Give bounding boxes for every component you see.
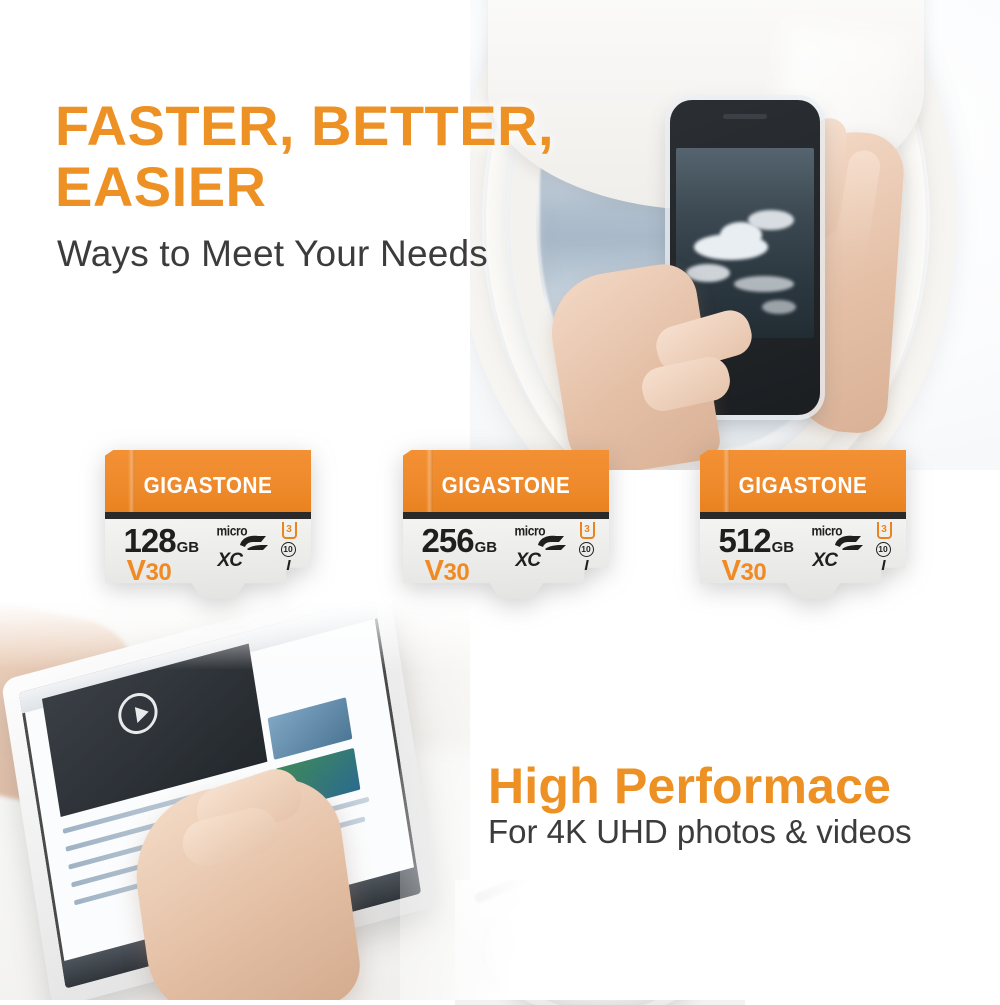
speed-class-badge: 10 [281, 542, 296, 557]
performance-subtitle: For 4K UHD photos & videos [488, 813, 988, 851]
capacity-label: 128GB [124, 524, 200, 557]
microsd-logo: micro XC 3 10 I [515, 524, 593, 572]
capacity-unit: GB [772, 539, 795, 556]
capacity-unit: GB [177, 539, 200, 556]
page-subtitle: Ways to Meet Your Needs [57, 233, 577, 275]
microsd-logo: micro XC 3 10 I [217, 524, 295, 572]
capacity-unit: GB [475, 539, 498, 556]
card-divider-stripe [403, 512, 609, 519]
capacity-label: 512GB [719, 524, 795, 557]
microsd-suffix: XC [813, 550, 837, 572]
page-title: FASTER, BETTER, EASIER [55, 95, 615, 217]
microsd-suffix: XC [218, 550, 242, 572]
uhs-bus-badge: I [584, 558, 588, 573]
card-divider-stripe [105, 512, 311, 519]
memory-card-256gb: GIGASTONE 256GB V30 micro XC 3 10 I [403, 450, 609, 605]
sd-mark-icon [239, 533, 269, 551]
headline-line-1: FASTER, BETTER, [55, 94, 554, 157]
microsd-suffix: XC [516, 550, 540, 572]
brand-logo: GIGASTONE [413, 472, 598, 499]
speed-class-label: V30 [425, 557, 470, 586]
capacity-value: 256 [422, 522, 474, 559]
speed-class-label: V30 [722, 557, 767, 586]
uhs-speed-class-badge: 3 [877, 522, 892, 539]
sd-mark-icon [834, 533, 864, 551]
cloud [762, 300, 796, 314]
brand-logo: GIGASTONE [115, 472, 300, 499]
capacity-label: 256GB [422, 524, 498, 557]
cloud [748, 210, 794, 230]
play-icon [115, 689, 160, 739]
card-divider-stripe [700, 512, 906, 519]
brand-logo: GIGASTONE [710, 472, 895, 499]
uhs-speed-class-badge: 3 [282, 522, 297, 539]
sd-mark-icon [537, 533, 567, 551]
marketing-banner: FASTER, BETTER, EASIER Ways to Meet Your… [0, 0, 1000, 1000]
speed-class-badge: 10 [876, 542, 891, 557]
speed-class-badge: 10 [579, 542, 594, 557]
memory-card-512gb: GIGASTONE 512GB V30 micro XC 3 10 I [700, 450, 906, 605]
uhs-speed-class-badge: 3 [580, 522, 595, 539]
memory-card-128gb: GIGASTONE 128GB V30 micro XC 3 10 I [105, 450, 311, 605]
phone-earpiece [723, 114, 767, 119]
cloud [686, 264, 730, 282]
capacity-value: 128 [124, 522, 176, 559]
microsd-logo: micro XC 3 10 I [812, 524, 890, 572]
uhs-bus-badge: I [286, 558, 290, 573]
headline-line-2: EASIER [55, 156, 615, 217]
speed-class-label: V30 [127, 557, 172, 586]
performance-title: High Performace [488, 757, 988, 815]
capacity-value: 512 [719, 522, 771, 559]
cloud [734, 276, 794, 292]
uhs-bus-badge: I [881, 558, 885, 573]
